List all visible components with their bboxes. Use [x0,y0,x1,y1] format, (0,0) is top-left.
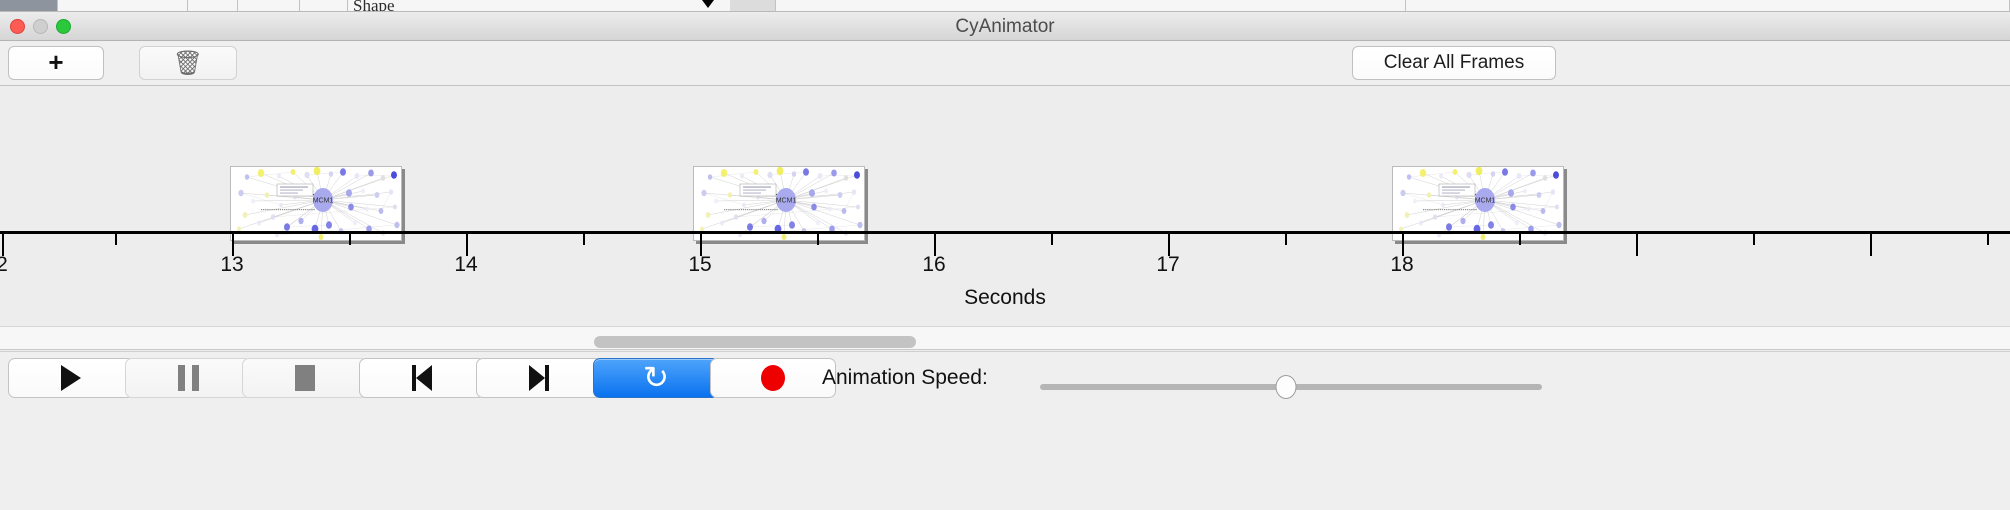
title-bar: CyAnimator [0,12,2010,41]
toolbar: + 🗑 Clear All Frames [0,42,2010,86]
loop-icon: ↻ [643,363,669,394]
next-frame-button[interactable] [476,358,602,398]
axis-tick-minor [583,234,585,245]
record-button[interactable] [710,358,836,398]
window-title: CyAnimator [0,12,2010,41]
axis-tick-minor [1285,234,1287,245]
axis-tick-major [1870,234,1872,256]
bg-seg [776,0,1406,12]
time-axis: 2131415161718 Seconds [0,231,2010,326]
skip-forward-icon [529,365,549,391]
prev-frame-button[interactable] [359,358,485,398]
frame-thumbnail[interactable]: MCM1 [1392,166,1564,241]
network-preview-3: MCM1 [1393,167,1563,240]
network-preview-2: MCM1 [694,167,864,240]
axis-title: Seconds [0,286,2010,310]
axis-tick-major [1636,234,1638,256]
axis-tick-minor [1519,234,1521,245]
axis-tick-label: 13 [220,253,243,277]
svg-text:MCM1: MCM1 [313,198,334,205]
pause-button[interactable] [125,358,251,398]
network-preview-1: MCM1 [231,167,401,240]
pause-icon [178,365,199,391]
axis-tick-minor [349,234,351,245]
axis-tick-label: 2 [0,253,8,277]
loop-button[interactable]: ↻ [593,358,719,398]
plus-icon: + [48,51,63,74]
delete-frame-button[interactable]: 🗑 [139,46,237,80]
stop-icon [295,365,315,391]
bg-seg [188,0,238,12]
axis-tick-minor [1753,234,1755,245]
add-frame-button[interactable]: + [8,46,104,80]
bg-seg [300,0,348,12]
axis-tick-minor [817,234,819,245]
bg-seg [730,0,776,12]
axis-tick-label: 17 [1156,253,1179,277]
cyanimator-window: Shape CyAnimator + 🗑 Clear All Frames MC… [0,0,2010,510]
axis-tick-minor [115,234,117,245]
axis-tick-label: 14 [454,253,477,277]
background-window-strip: Shape [0,0,2010,12]
animation-speed-slider[interactable] [1040,384,1542,390]
bg-caret-icon [702,0,714,8]
play-button[interactable] [8,358,134,398]
trash-icon: 🗑 [173,51,203,75]
bg-seg [58,0,188,12]
svg-text:MCM1: MCM1 [776,198,797,205]
scrollbar-track[interactable] [0,332,2010,346]
background-window-label: Shape [353,0,395,12]
axis-tick-minor [1987,234,1989,245]
frame-thumbnail[interactable]: MCM1 [693,166,865,241]
axis-tick-label: 15 [688,253,711,277]
playback-control-bar: ↻ Animation Speed: [0,351,2010,510]
axis-tick-label: 16 [922,253,945,277]
axis-line [0,231,2010,234]
animation-speed-label: Animation Speed: [822,366,988,390]
svg-text:MCM1: MCM1 [1475,198,1496,205]
clear-all-frames-button[interactable]: Clear All Frames [1352,46,1556,80]
scrollbar-thumb[interactable] [594,336,916,348]
bg-seg [1406,0,2010,12]
timeline-scrollbar[interactable] [0,326,2010,350]
play-icon [61,365,81,391]
axis-tick-minor [1051,234,1053,245]
bg-seg [238,0,300,12]
frame-thumbnail[interactable]: MCM1 [230,166,402,241]
skip-back-icon [412,365,432,391]
stop-button[interactable] [242,358,368,398]
timeline-panel[interactable]: MCM1 MCM1 MCM1 2131415161718 Seconds [0,86,2010,326]
axis-tick-label: 18 [1390,253,1413,277]
bg-seg [0,0,58,12]
animation-speed-thumb[interactable] [1275,375,1296,399]
record-icon [761,365,785,391]
